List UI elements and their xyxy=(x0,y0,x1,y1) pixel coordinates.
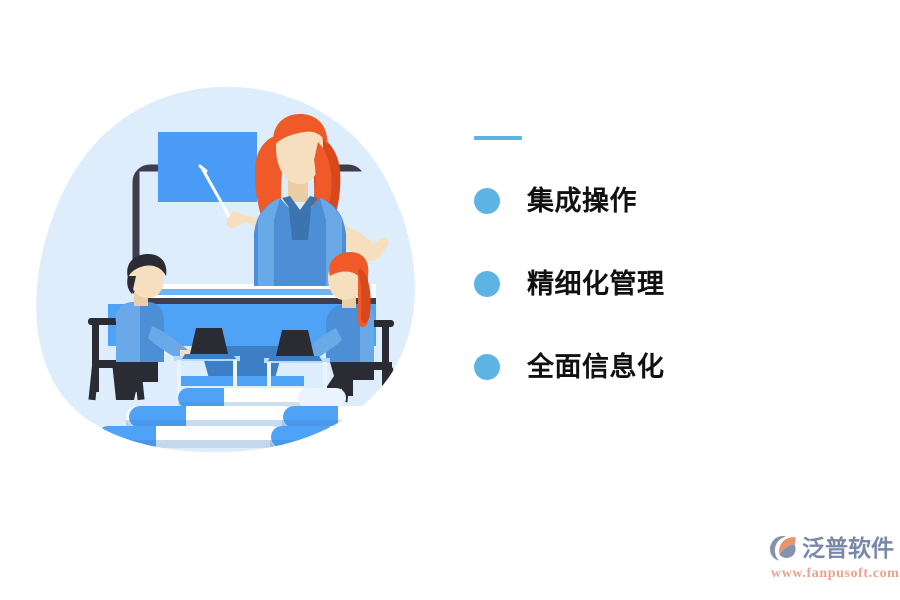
bullet-dot-icon xyxy=(474,188,500,214)
book-row-lower-right xyxy=(270,426,450,448)
feature-label-3: 全面信息化 xyxy=(527,354,665,381)
book-row-lower xyxy=(96,426,282,448)
slide-canvas: 集成操作 精细化管理 全面信息化 泛普软件 www.fanpusoft.com xyxy=(0,0,900,600)
bullet-dot-icon xyxy=(474,271,500,297)
accent-rule xyxy=(474,136,522,140)
book-row-middle-right xyxy=(282,406,446,428)
book-row-upper xyxy=(178,388,346,408)
fanpu-logo-icon xyxy=(768,534,798,562)
online-classroom-illustration xyxy=(30,70,450,470)
feature-item-2[interactable]: 精细化管理 xyxy=(474,263,874,305)
feature-item-3[interactable]: 全面信息化 xyxy=(474,346,874,388)
book-row-middle xyxy=(126,406,294,428)
feature-item-1[interactable]: 集成操作 xyxy=(474,180,874,222)
brand-logo-row: 泛普软件 xyxy=(768,532,894,564)
bullet-dot-icon xyxy=(474,354,500,380)
brand-url: www.fanpusoft.com xyxy=(771,566,899,582)
brand-logo[interactable]: 泛普软件 www.fanpusoft.com xyxy=(768,532,894,586)
feature-label-2: 精细化管理 xyxy=(527,271,665,298)
brand-name: 泛普软件 xyxy=(802,537,894,560)
presentation-board xyxy=(158,132,257,202)
feature-list: 集成操作 精细化管理 全面信息化 xyxy=(474,136,874,388)
feature-label-1: 集成操作 xyxy=(527,188,637,215)
